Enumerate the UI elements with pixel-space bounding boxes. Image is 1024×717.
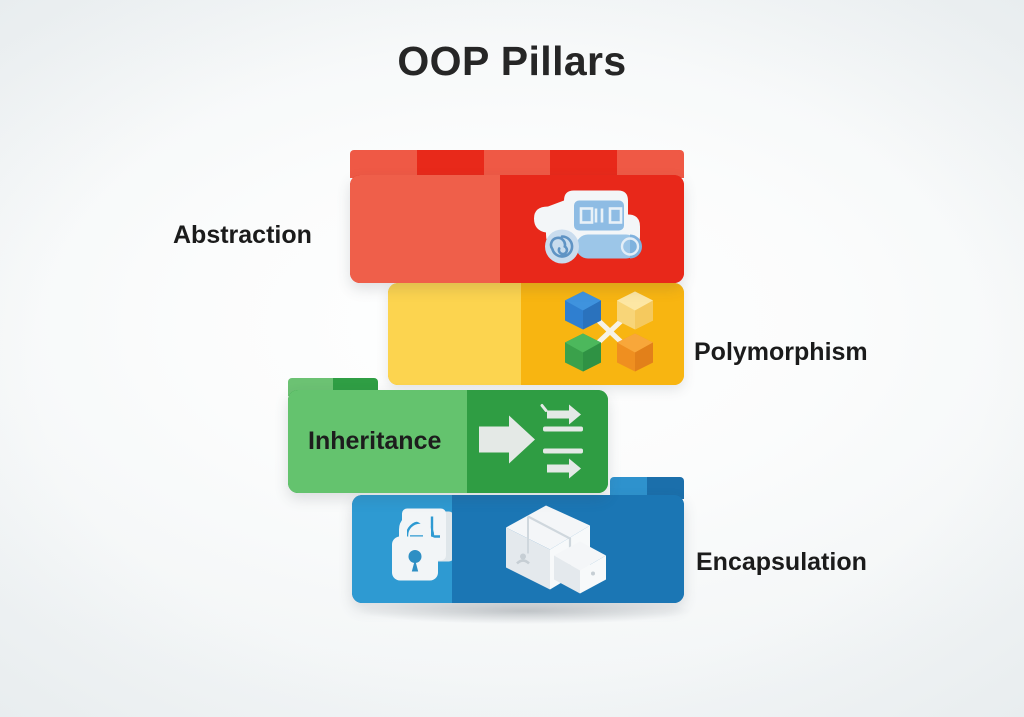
brick-face-right-polymorphism [521,283,684,385]
brick-face-right-encapsulation [452,495,684,603]
brick-face-right-inheritance [467,390,608,493]
packed-boxes-icon [498,498,614,601]
brick-body-inheritance: Inheritance [288,390,608,493]
label-abstraction: Abstraction [173,221,312,250]
label-encapsulation: Encapsulation [696,548,867,577]
brick-face-left-polymorphism [388,283,521,385]
label-polymorphism: Polymorphism [694,338,868,367]
brick-body-abstraction [350,175,684,283]
brick-polymorphism[interactable] [388,275,684,385]
connected-hexagons-icon [557,286,661,383]
brick-encapsulation[interactable] [352,477,684,603]
brick-studs-abstraction [350,150,684,178]
brick-face-right-abstraction [500,175,684,283]
brick-abstraction[interactable] [350,150,684,283]
label-inheritance: Inheritance [308,427,441,456]
brick-inheritance[interactable]: Inheritance [288,378,608,493]
brick-body-polymorphism [388,283,684,385]
brick-face-left-inheritance: Inheritance [288,390,467,493]
brick-body-encapsulation [352,495,684,603]
brick-face-left-abstraction [350,175,500,283]
abstract-machine-icon [530,183,654,276]
page-title: OOP Pillars [0,38,1024,85]
branching-arrows-icon [473,396,597,487]
diagram-canvas: OOP Pillars Abstraction Polymorphism Enc… [0,0,1024,717]
brick-face-left-encapsulation [352,495,452,603]
